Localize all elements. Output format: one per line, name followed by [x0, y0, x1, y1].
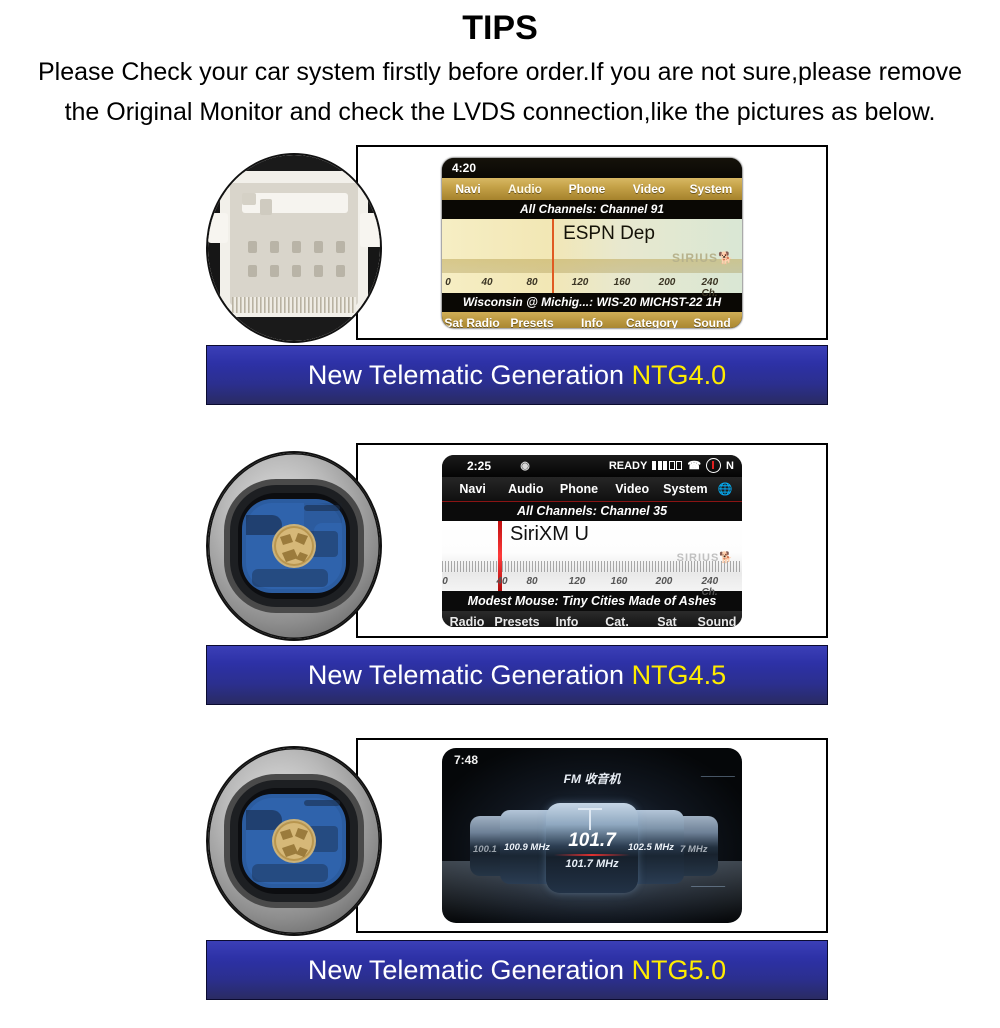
status-bar-ntg45: 2:25 ◉ READY ☎ N — [442, 455, 742, 477]
menu-item-audio[interactable]: Audio — [499, 482, 552, 496]
softkey-presets[interactable]: Presets — [502, 316, 562, 328]
ready-label: READY — [609, 460, 648, 472]
softkey-category[interactable]: Category — [622, 316, 682, 328]
clock-ntg50: 7:48 — [454, 753, 478, 767]
tuner-display-ntg40: ESPN Dep SIRIUS🐕 0 40 80 120 160 200 240… — [442, 219, 742, 293]
connector-photo-ntg45 — [206, 451, 382, 641]
caption-code-ntg40: NTG4.0 — [632, 360, 727, 390]
info-line-ntg45: Modest Mouse: Tiny Cities Made of Ashes — [442, 591, 742, 611]
tuned-frequency-unit-ntg50: 101.7 MHz — [546, 858, 638, 870]
preset-label-5: 7 MHz — [680, 844, 707, 855]
headunit-screen-ntg50: 7:48 FM 收音机 100.1 100.9 MHz 102.5 MHz 7 … — [442, 748, 742, 923]
tuner-scale-ntg40: 0 40 80 120 160 200 240 Ch. — [442, 277, 742, 291]
gear-indicator: N — [726, 460, 734, 472]
caption-code-ntg45: NTG4.5 — [632, 660, 727, 690]
softkey-bar-ntg40[interactable]: Sat Radio Presets Info Category Sound — [442, 312, 742, 328]
station-name-ntg45: SiriXM U — [510, 523, 589, 546]
station-name-ntg40: ESPN Dep — [442, 223, 742, 245]
headunit-screen-ntg40: 4:20 Navi Audio Phone Video System All C… — [442, 158, 742, 328]
tuner-display-ntg45: SiriXM U SIRIUS🐕 0 40 80 120 160 200 240… — [442, 521, 742, 591]
tick-160: 160 — [614, 277, 631, 288]
tick-40: 40 — [496, 576, 507, 587]
softkey-sound[interactable]: Sound — [682, 316, 742, 328]
caption-ntg50: New Telematic Generation NTG5.0 — [206, 940, 828, 1000]
round-grey-blue-fakra-lvds-connector-icon — [208, 748, 380, 934]
preset-label-2: 100.9 MHz — [504, 842, 550, 853]
tick-120: 120 — [569, 576, 586, 587]
caption-ntg45: New Telematic Generation NTG4.5 — [206, 645, 828, 705]
clock-ntg40: 4:20 — [452, 161, 476, 175]
tick-80: 80 — [526, 277, 537, 288]
screen-photo-box-ntg50: 7:48 FM 收音机 100.1 100.9 MHz 102.5 MHz 7 … — [356, 738, 828, 933]
tick-0: 0 — [445, 277, 451, 288]
caption-code-ntg50: NTG5.0 — [632, 955, 727, 985]
softkey-bar-ntg45[interactable]: Radio Presets Info Cat. Sat Sound — [442, 611, 742, 627]
phone-icon: ☎ — [687, 459, 701, 472]
tick-240: 240 Ch. — [702, 277, 729, 299]
menu-item-video[interactable]: Video — [606, 482, 659, 496]
tick-200: 200 — [656, 576, 673, 587]
clock-ntg45: 2:25 — [450, 459, 508, 473]
tick-160: 160 — [611, 576, 628, 587]
caption-text-ntg45: New Telematic Generation NTG4.5 — [308, 660, 726, 691]
softkey-radio[interactable]: Radio — [442, 615, 492, 627]
headunit-screen-ntg45: 2:25 ◉ READY ☎ N Navi Audio Phone Vid — [442, 455, 742, 627]
caption-text-ntg40: New Telematic Generation NTG4.0 — [308, 360, 726, 391]
softkey-sat[interactable]: Sat — [642, 615, 692, 627]
white-rectangular-lvds-connector-icon — [208, 155, 380, 341]
softkey-info[interactable]: Info — [542, 615, 592, 627]
tuner-scale-ntg45: 0 40 80 120 160 200 240 Ch. — [442, 576, 742, 590]
connector-photo-ntg50 — [206, 746, 382, 936]
screen-photo-box-ntg45: 2:25 ◉ READY ☎ N Navi Audio Phone Vid — [356, 443, 828, 638]
round-grey-blue-fakra-lvds-connector-icon — [208, 453, 380, 639]
status-bar-ntg40: 4:20 — [442, 158, 742, 178]
menu-item-video[interactable]: Video — [618, 182, 680, 196]
menu-bar-ntg40[interactable]: Navi Audio Phone Video System — [442, 178, 742, 200]
channel-line-ntg45: All Channels: Channel 35 — [442, 502, 742, 521]
menu-item-phone[interactable]: Phone — [556, 182, 618, 196]
tips-line-2: the Original Monitor and check the LVDS … — [0, 92, 1000, 132]
menu-item-audio[interactable]: Audio — [494, 182, 556, 196]
menu-item-system[interactable]: System — [680, 182, 742, 196]
antenna-icon — [589, 808, 591, 830]
signal-bars-icon — [652, 461, 682, 470]
sirius-logo-ntg40: SIRIUS🐕 — [672, 251, 734, 265]
disc-icon: ◉ — [508, 459, 542, 472]
softkey-cat[interactable]: Cat. — [592, 615, 642, 627]
tick-80: 80 — [526, 576, 537, 587]
menu-item-system[interactable]: System — [659, 482, 712, 496]
screen-photo-box-ntg40: 4:20 Navi Audio Phone Video System All C… — [356, 145, 828, 340]
softkey-sound[interactable]: Sound — [692, 615, 742, 627]
tick-200: 200 — [659, 277, 676, 288]
tips-header: TIPS Please Check your car system firstl… — [0, 0, 1000, 132]
sirius-logo-ntg45: SIRIUS🐕 — [677, 551, 734, 564]
tick-0: 0 — [442, 576, 448, 587]
tick-240: 240 Ch. — [702, 576, 729, 598]
info-line-ntg40: Wisconsin @ Michig...: WIS-20 MICHST-22 … — [442, 293, 742, 312]
menu-item-navi[interactable]: Navi — [442, 182, 494, 196]
page-title: TIPS — [0, 8, 1000, 48]
menu-bar-ntg45[interactable]: Navi Audio Phone Video System 🌐 — [442, 477, 742, 502]
caption-ntg40: New Telematic Generation NTG4.0 — [206, 345, 828, 405]
globe-icon[interactable]: 🌐 — [712, 482, 738, 496]
tick-40: 40 — [481, 277, 492, 288]
menu-item-navi[interactable]: Navi — [446, 482, 499, 496]
tick-120: 120 — [572, 277, 589, 288]
status-cluster-ntg45: READY ☎ N — [609, 458, 734, 473]
caption-text-ntg50: New Telematic Generation NTG5.0 — [308, 955, 726, 986]
softkey-presets[interactable]: Presets — [492, 615, 542, 627]
tips-line-1: Please Check your car system firstly bef… — [0, 52, 1000, 92]
channel-line-ntg40: All Channels: Channel 91 — [442, 200, 742, 219]
connector-photo-ntg40 — [206, 153, 382, 343]
softkey-info[interactable]: Info — [562, 316, 622, 328]
softkey-sat-radio[interactable]: Sat Radio — [442, 316, 502, 328]
tuned-frequency-ntg50: 101.7 — [546, 830, 638, 852]
menu-item-phone[interactable]: Phone — [552, 482, 605, 496]
frequency-underline — [554, 854, 630, 856]
warning-indicator-icon — [706, 458, 721, 473]
preset-label-1: 100.1 — [473, 844, 497, 855]
